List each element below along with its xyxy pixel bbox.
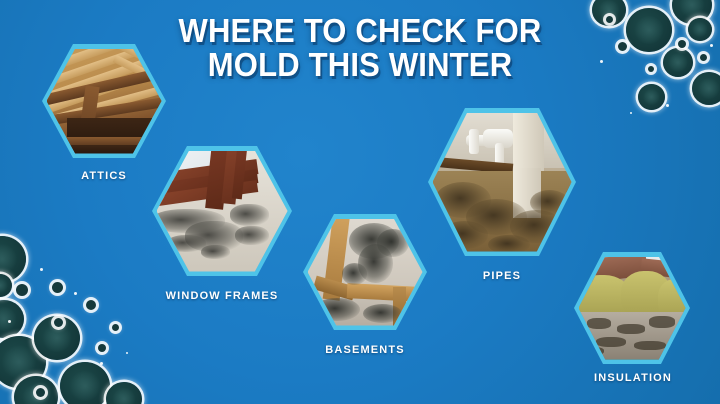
hex-card-insulation[interactable] [574,252,690,364]
mold-spot [106,382,142,404]
hex-card-pipes[interactable] [428,108,576,256]
mold-spot-small [700,54,707,61]
mold-speck [40,268,43,271]
mold-spot-small [36,388,45,397]
photo-basements [308,219,423,326]
hex-label-insulation: INSULATION [570,372,696,384]
mold-speck [74,292,77,295]
mold-spot-small [54,318,63,327]
hex-photo-attics [47,49,162,154]
mold-spot [60,362,110,404]
mold-spot [34,316,80,360]
mold-speck [666,104,669,107]
photo-pipes [433,113,572,252]
mold-spot [638,84,665,110]
mold-speck [710,44,713,47]
infographic-canvas: WHERE TO CHECK FORMOLD THIS WINTER ATT [0,0,720,404]
hex-photo-window-frames [157,151,288,272]
mold-spot-small [86,300,96,310]
title-line-2: MOLD THIS WINTER [208,46,513,83]
hex-photo-pipes [433,113,572,252]
hex-photo-insulation [579,257,686,360]
mold-spot-small [98,344,106,352]
mold-spot [0,300,24,338]
mold-spot [0,236,26,282]
hex-card-basements[interactable] [303,214,427,330]
mold-speck [126,352,128,354]
hex-photo-basements [308,219,423,326]
photo-attics [47,49,162,154]
title-line-1: WHERE TO CHECK FOR [178,12,541,49]
mold-spot-small [52,282,63,293]
hex-card-window-frames[interactable] [152,146,292,276]
mold-spot-small [16,284,28,296]
mold-speck [630,112,632,114]
mold-spot-small [112,324,119,331]
mold-spot [0,336,46,388]
hex-label-basements: BASEMENTS [300,344,430,356]
hex-label-window-frames: WINDOW FRAMES [142,290,302,302]
mold-spot [14,376,58,404]
hex-label-attics: ATTICS [42,170,166,182]
mold-speck [100,362,103,365]
mold-spot [0,274,12,297]
hex-label-pipes: PIPES [440,270,564,282]
photo-window-frames [157,151,288,272]
photo-insulation [579,257,686,360]
mold-speck [8,320,11,323]
